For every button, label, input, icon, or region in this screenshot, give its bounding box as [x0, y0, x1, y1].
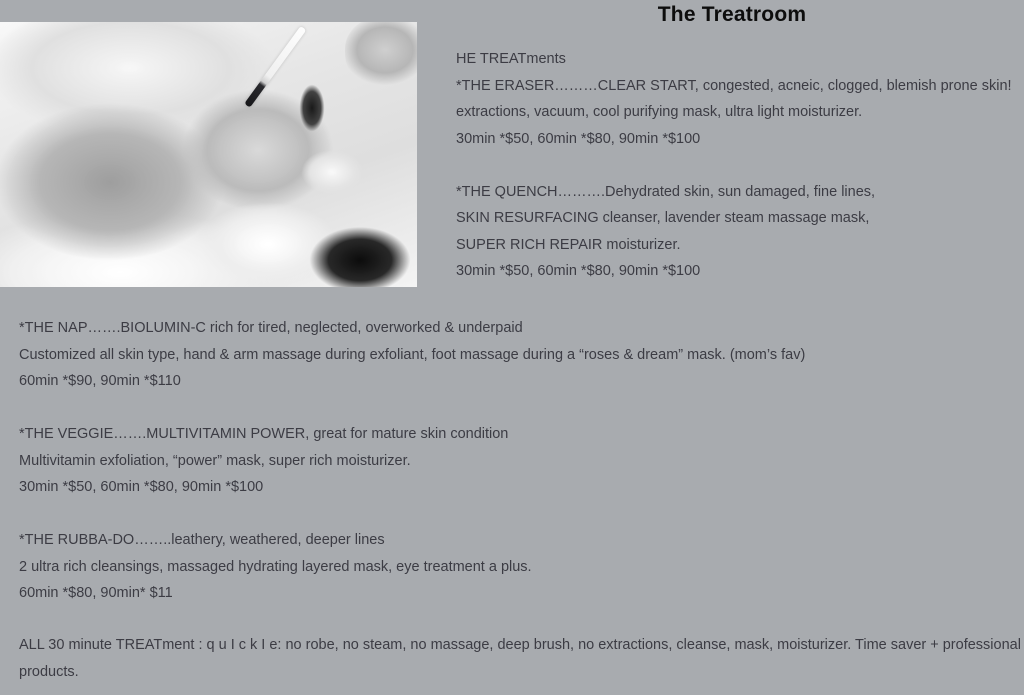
- treatment-photo: [0, 22, 417, 287]
- treatment-line: extractions, vacuum, cool purifying mask…: [456, 99, 1016, 126]
- treatment-price-line: 30min *$50, 60min *$80, 90min *$100: [456, 258, 1016, 285]
- document-page: The Treatroom HE TREATments *THE ERASER……: [0, 0, 1024, 695]
- treatment-price-line: 60min *$80, 90min* $11: [19, 580, 1019, 607]
- footer-note: ALL 30 minute TREATment : q u I c k I e:…: [19, 632, 1024, 685]
- treatment-line: *THE NAP…….BIOLUMIN-C rich for tired, ne…: [19, 315, 1019, 342]
- treatment-line: *THE RUBBA-DO……..leathery, weathered, de…: [19, 527, 1019, 554]
- footer-note-text: ALL 30 minute TREATment : q u I c k I e:…: [19, 632, 1024, 685]
- page-title: The Treatroom: [440, 2, 1024, 28]
- treatment-block-quench: *THE QUENCH……….Dehydrated skin, sun dama…: [456, 179, 1016, 285]
- treatment-line: SUPER RICH REPAIR moisturizer.: [456, 232, 1016, 259]
- treatment-block-veggie: *THE VEGGIE…….MULTIVITAMIN POWER, great …: [19, 421, 1019, 501]
- treatment-line: *THE ERASER………CLEAR START, congested, ac…: [456, 73, 1016, 100]
- treatment-line: *THE VEGGIE…….MULTIVITAMIN POWER, great …: [19, 421, 1019, 448]
- right-text-column: HE TREATments *THE ERASER………CLEAR START,…: [456, 46, 1016, 285]
- treatment-block-eraser: *THE ERASER………CLEAR START, congested, ac…: [456, 73, 1016, 153]
- treatment-line: Customized all skin type, hand & arm mas…: [19, 342, 1019, 369]
- he-treatments-heading: HE TREATments: [456, 46, 1016, 73]
- treatment-line: *THE QUENCH……….Dehydrated skin, sun dama…: [456, 179, 1016, 206]
- treatment-price-line: 30min *$50, 60min *$80, 90min *$100: [19, 474, 1019, 501]
- treatment-line: SKIN RESURFACING cleanser, lavender stea…: [456, 205, 1016, 232]
- lower-text-section: *THE NAP…….BIOLUMIN-C rich for tired, ne…: [19, 315, 1019, 607]
- treatment-line: 2 ultra rich cleansings, massaged hydrat…: [19, 554, 1019, 581]
- treatment-block-nap: *THE NAP…….BIOLUMIN-C rich for tired, ne…: [19, 315, 1019, 395]
- treatment-price-line: 30min *$50, 60min *$80, 90min *$100: [456, 126, 1016, 153]
- treatment-price-line: 60min *$90, 90min *$110: [19, 368, 1019, 395]
- treatment-block-rubba-do: *THE RUBBA-DO……..leathery, weathered, de…: [19, 527, 1019, 607]
- treatment-line: Multivitamin exfoliation, “power” mask, …: [19, 448, 1019, 475]
